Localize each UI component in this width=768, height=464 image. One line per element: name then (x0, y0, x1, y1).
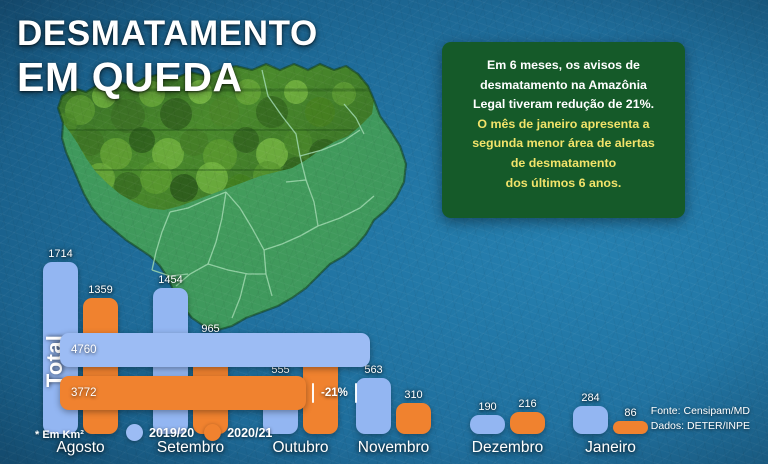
bar-janeiro-2020-21 (613, 421, 648, 434)
callout-line-1: Em 6 meses, os avisos de (452, 56, 675, 76)
total-section: Total 4760 3772 -21% (0, 330, 420, 410)
unit-note: * Em Km² (35, 429, 84, 441)
bar-value-agosto-2019-20: 1714 (48, 248, 72, 260)
source-line-1: Fonte: Censipam/MD (651, 404, 750, 419)
legend-item-2019-20: 2019/20 (126, 424, 194, 441)
bar-group-setembro: 1454965Setembro (153, 146, 228, 464)
source-line-2: Dados: DETER/INPE (651, 419, 750, 434)
bar-value-setembro-2019-20: 1454 (158, 274, 182, 286)
total-bar-2019-20: 4760 (60, 333, 370, 367)
total-delta-annotation: -21% (312, 376, 357, 410)
bar-group-novembro: 563310Novembro (356, 146, 431, 464)
page-title-line-2: EM QUEDA (17, 57, 318, 97)
bar-value-janeiro-2019-20: 284 (581, 392, 599, 404)
legend-swatch-circle-icon (204, 424, 221, 441)
delta-value: -21% (321, 387, 348, 399)
infographic-canvas: DESMATAMENTO EM QUEDA Em 6 meses, os avi… (0, 0, 768, 464)
month-label-setembro: Setembro (157, 439, 224, 457)
page-title: DESMATAMENTO EM QUEDA (17, 17, 318, 97)
month-label-agosto: Agosto (56, 439, 104, 457)
legend-item-2020-21: 2020/21 (204, 424, 272, 441)
callout-line-2: desmatamento na Amazônia (452, 76, 675, 96)
bar-value-dezembro-2019-20: 190 (478, 401, 496, 413)
total-bar-2020-21-value: 3772 (71, 387, 97, 399)
legend-label-2020-21: 2020/21 (227, 426, 272, 440)
bar-value-agosto-2020-21: 1359 (88, 284, 112, 296)
month-label-janeiro: Janeiro (585, 439, 636, 457)
delta-tick-right-icon (355, 383, 357, 403)
callout-line-7: dos últimos 6 anos. (452, 174, 675, 194)
legend-swatch-circle-icon (126, 424, 143, 441)
bar-dezembro-2019-20 (470, 415, 505, 434)
callout-box: Em 6 meses, os avisos de desmatamento na… (442, 42, 685, 218)
bar-value-janeiro-2020-21: 86 (624, 407, 636, 419)
total-bar-2019-20-value: 4760 (71, 344, 97, 356)
bar-group-agosto: 17141359Agosto (43, 146, 118, 464)
callout-line-3: Legal tiveram redução de 21%. (452, 95, 675, 115)
legend-label-2019-20: 2019/20 (149, 426, 194, 440)
total-bar-2020-21: 3772 (60, 376, 306, 410)
delta-tick-left-icon (312, 383, 314, 403)
month-label-novembro: Novembro (358, 439, 430, 457)
bar-dezembro-2020-21 (510, 412, 545, 434)
bar-value-dezembro-2020-21: 216 (518, 398, 536, 410)
bar-group-outubro: 555836Outubro (263, 146, 338, 464)
chart-legend: 2019/20 2020/21 (126, 424, 272, 441)
callout-line-5: segunda menor área de alertas (452, 134, 675, 154)
bar-janeiro-2019-20 (573, 406, 608, 434)
page-title-line-1: DESMATAMENTO (17, 17, 318, 51)
callout-line-6: de desmatamento (452, 154, 675, 174)
month-label-outubro: Outubro (272, 439, 328, 457)
source-credits: Fonte: Censipam/MD Dados: DETER/INPE (651, 404, 750, 434)
month-label-dezembro: Dezembro (472, 439, 544, 457)
callout-line-4: O mês de janeiro apresenta a (452, 115, 675, 135)
